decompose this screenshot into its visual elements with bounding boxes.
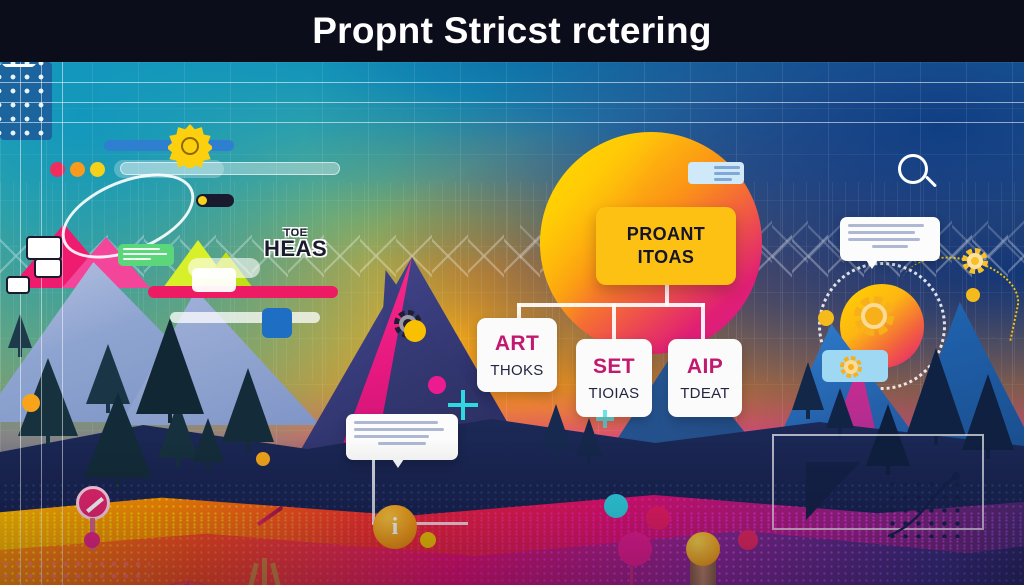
dot-marker xyxy=(84,532,100,548)
dot-marker xyxy=(818,310,834,326)
app-tile-icon xyxy=(262,308,292,338)
heas-badge-line2: HEAS xyxy=(264,236,327,262)
info-icon[interactable]: i xyxy=(373,505,417,549)
halftone-dots-left xyxy=(0,558,150,585)
card-proant-line1: PROANT xyxy=(627,224,705,245)
card-aip[interactable]: AIP TDEAT xyxy=(668,339,742,417)
dot-marker xyxy=(22,394,40,412)
dot-marker xyxy=(256,452,270,466)
connector-drop-set xyxy=(612,303,616,343)
pine-tree xyxy=(222,368,274,451)
dot-marker xyxy=(738,530,758,550)
page-header: Propnt Stricst rctering xyxy=(0,0,1024,62)
left-tooltip xyxy=(346,414,458,460)
pine-tree xyxy=(906,348,966,445)
right-tooltip xyxy=(840,217,940,261)
connector-horizontal-right xyxy=(665,303,705,307)
status-dot-yellow xyxy=(90,162,105,177)
gear-icon xyxy=(840,356,862,378)
green-tooltip xyxy=(118,244,174,266)
card-aip-title: AIP xyxy=(687,355,723,379)
ui-progress-bar xyxy=(148,286,338,298)
card-art[interactable]: ART THOKS xyxy=(477,318,557,392)
mini-widget-line xyxy=(714,178,732,181)
dot-stem xyxy=(630,566,633,585)
card-aip-subtitle: TDEAT xyxy=(680,385,730,402)
sparkle-cross-icon xyxy=(448,390,478,420)
connector-tooltip-left xyxy=(372,458,375,524)
card-proant-itoas[interactable]: PROANT ITOAS xyxy=(596,207,736,285)
card-set[interactable]: SET TIOIAS xyxy=(576,339,652,417)
connector-vertical-main xyxy=(665,285,669,305)
mini-widget-line xyxy=(714,172,740,175)
connector-horizontal-left xyxy=(517,303,669,307)
gear-icon xyxy=(962,248,988,274)
dot-marker xyxy=(420,532,436,548)
tripod-leg xyxy=(262,558,267,585)
dot-marker xyxy=(966,288,980,302)
heas-badge: TOE HEAS xyxy=(264,227,327,262)
status-dot-orange xyxy=(70,162,85,177)
chat-bubble-icon xyxy=(6,276,30,294)
trend-line-chart xyxy=(884,470,970,542)
card-art-title: ART xyxy=(495,332,539,356)
card-proant-line2: ITOAS xyxy=(638,247,695,268)
chat-bubble-icon xyxy=(34,258,62,278)
connector-drop-aip xyxy=(701,303,705,343)
gear-icon xyxy=(854,296,894,336)
dot-marker xyxy=(646,506,670,530)
sphere-icon xyxy=(686,532,720,566)
pine-tree xyxy=(826,388,854,437)
info-chip xyxy=(192,268,236,292)
card-art-subtitle: THOKS xyxy=(490,362,543,379)
arrow-icon xyxy=(806,462,860,520)
gear-core-icon xyxy=(404,320,426,342)
sun-core-icon xyxy=(181,137,199,155)
pine-tree xyxy=(792,362,824,419)
card-set-title: SET xyxy=(593,355,635,379)
pine-tree xyxy=(136,318,204,423)
ui-progress-track xyxy=(170,312,320,323)
ui-toggle-knob xyxy=(198,196,207,205)
dot-grid-panel-icon xyxy=(0,62,52,140)
illustration-canvas: TOE HEAS P xyxy=(0,62,1024,585)
mini-widget-line xyxy=(714,166,740,169)
pine-tree xyxy=(540,404,572,459)
dot-marker xyxy=(604,494,628,518)
card-set-subtitle: TIOIAS xyxy=(589,385,640,402)
no-entry-icon xyxy=(76,486,110,520)
chat-bubble-icon xyxy=(26,236,62,260)
dot-marker xyxy=(428,376,446,394)
sparkle-cross-icon xyxy=(596,410,614,428)
dot-marker xyxy=(618,532,652,566)
magnifier-icon xyxy=(898,154,928,184)
page-title: Propnt Stricst rctering xyxy=(312,10,712,52)
pine-tree xyxy=(192,418,224,471)
